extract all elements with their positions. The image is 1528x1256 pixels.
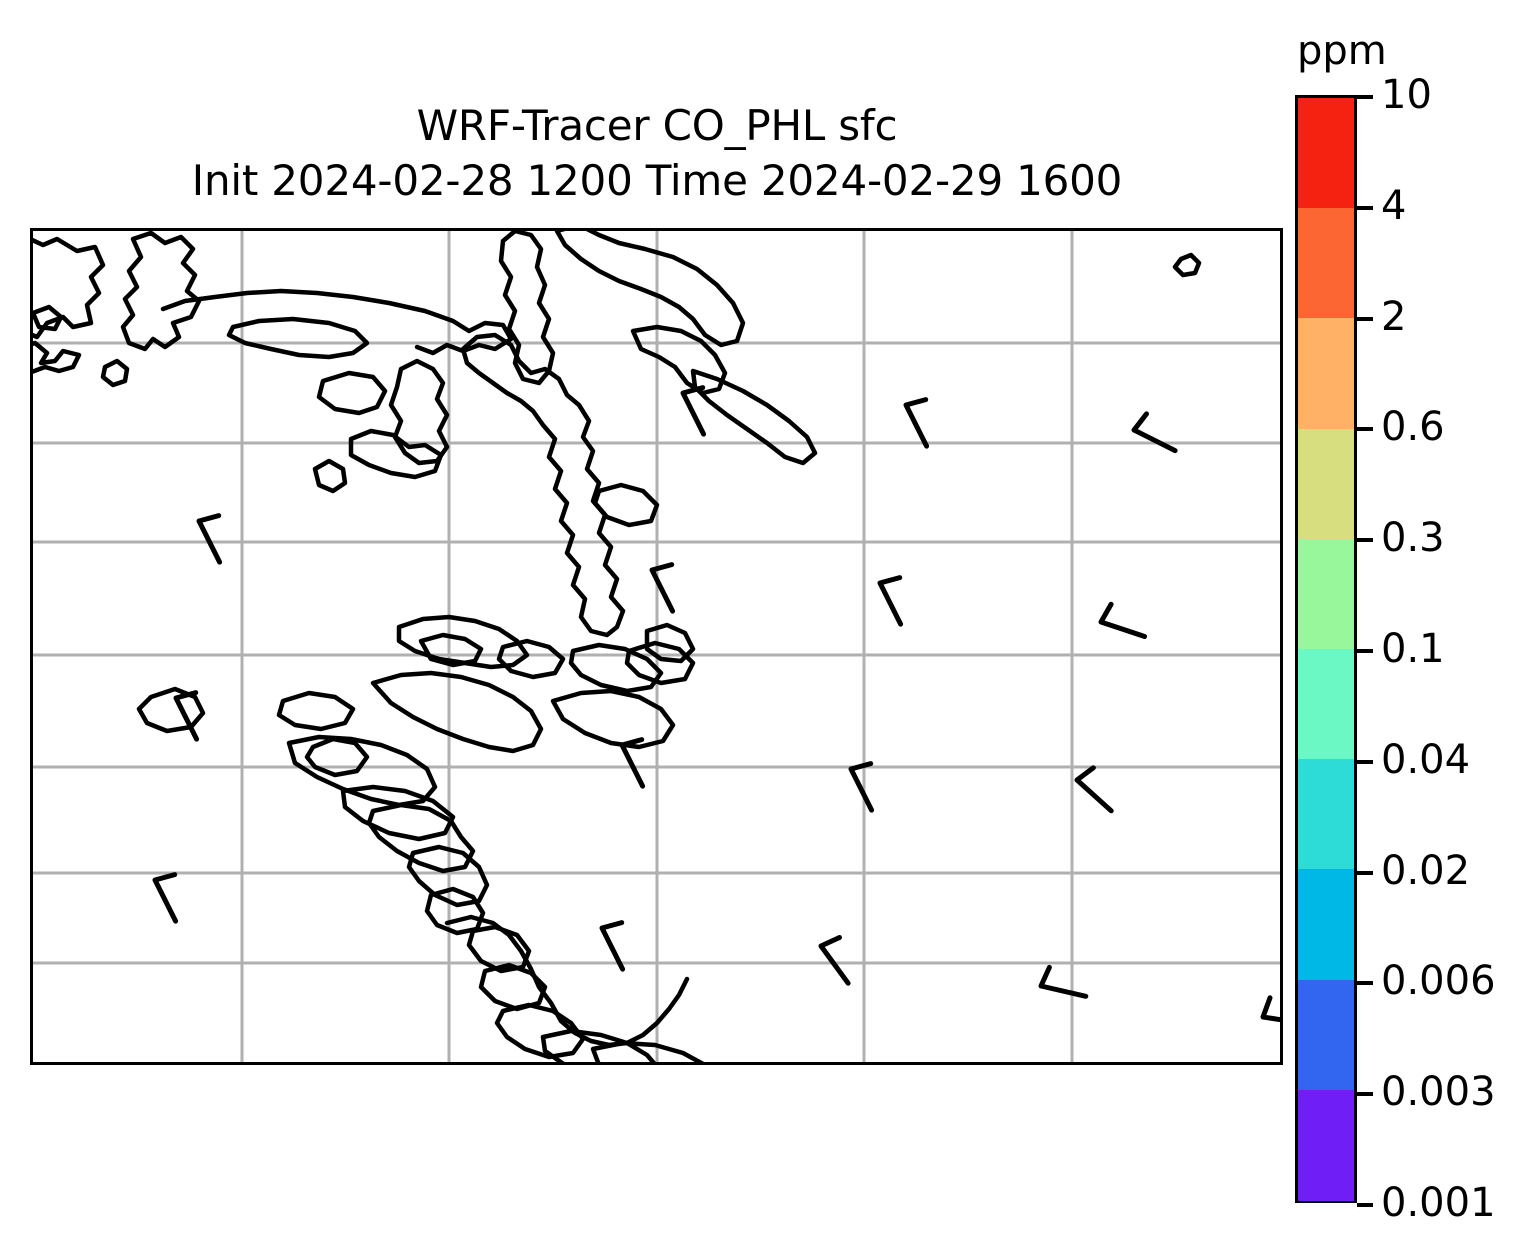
colorbar-tick-label-7: 0.02 [1381,848,1470,894]
colorbar-tick-label-2: 2 [1381,294,1406,340]
wind-barb-13 [821,938,848,984]
wind-barb-15 [1263,998,1280,1024]
wind-barb-11 [155,875,176,922]
colorbar-tick-label-10: 0.001 [1381,1180,1496,1226]
colorbar-tick-mark-4 [1357,538,1373,542]
title-line-2: Init 2024-02-28 1200 Time 2024-02-29 160… [30,153,1284,208]
colorbar-tick-mark-10 [1357,1203,1373,1207]
title-line-1: WRF-Tracer CO_PHL sfc [30,98,1284,153]
map-svg [33,231,1280,1062]
wind-barb-2 [1134,414,1175,451]
colorbar-tick-label-6: 0.04 [1381,737,1470,783]
wind-barb-1 [906,400,927,447]
colorbar-band-5 [1298,649,1354,760]
colorbar-tick-label-4: 0.3 [1381,515,1445,561]
colorbar-tick-mark-2 [1357,317,1373,321]
wind-barb-7 [176,693,197,740]
wind-barb-4 [652,565,673,612]
colorbar-tick-mark-3 [1357,427,1373,431]
colorbar-band-1 [1298,208,1354,319]
colorbar-unit-label: ppm [1297,28,1387,74]
colorbar-tick-mark-6 [1357,760,1373,764]
figure-canvas: WRF-Tracer CO_PHL sfc Init 2024-02-28 12… [0,0,1528,1256]
colorbar-band-3 [1298,429,1354,540]
colorbar-band-7 [1298,869,1354,980]
colorbar-band-4 [1298,539,1354,650]
colorbar-tick-mark-0 [1357,95,1373,99]
wind-barb-14 [1041,967,1086,996]
wind-barb-10 [1077,768,1111,811]
map-plot-area[interactable] [30,228,1283,1065]
colorbar-tick-label-5: 0.1 [1381,626,1445,672]
colorbar-band-2 [1298,318,1354,429]
colorbar-tick-label-3: 0.6 [1381,404,1445,450]
wind-barb-9 [851,764,872,811]
wind-barb-3 [199,516,220,563]
wind-barb-6 [1101,604,1145,636]
colorbar-tick-mark-8 [1357,981,1373,985]
wind-barb-5 [880,578,901,625]
colorbar-band-9 [1298,1090,1354,1201]
colorbar[interactable] [1295,95,1357,1203]
coastline-layer [33,231,1199,1062]
colorbar-tick-label-8: 0.006 [1381,958,1496,1004]
colorbar-tick-mark-7 [1357,871,1373,875]
colorbar-tick-label-9: 0.003 [1381,1069,1496,1115]
colorbar-tick-label-0: 10 [1381,72,1432,118]
colorbar-band-8 [1298,980,1354,1091]
page-title: WRF-Tracer CO_PHL sfc Init 2024-02-28 12… [30,98,1284,208]
colorbar-band-0 [1298,98,1354,209]
colorbar-tick-mark-5 [1357,649,1373,653]
colorbar-band-6 [1298,759,1354,870]
colorbar-tick-label-1: 4 [1381,183,1406,229]
wind-barb-layer [155,388,1280,1024]
colorbar-tick-mark-1 [1357,206,1373,210]
colorbar-tick-mark-9 [1357,1092,1373,1096]
